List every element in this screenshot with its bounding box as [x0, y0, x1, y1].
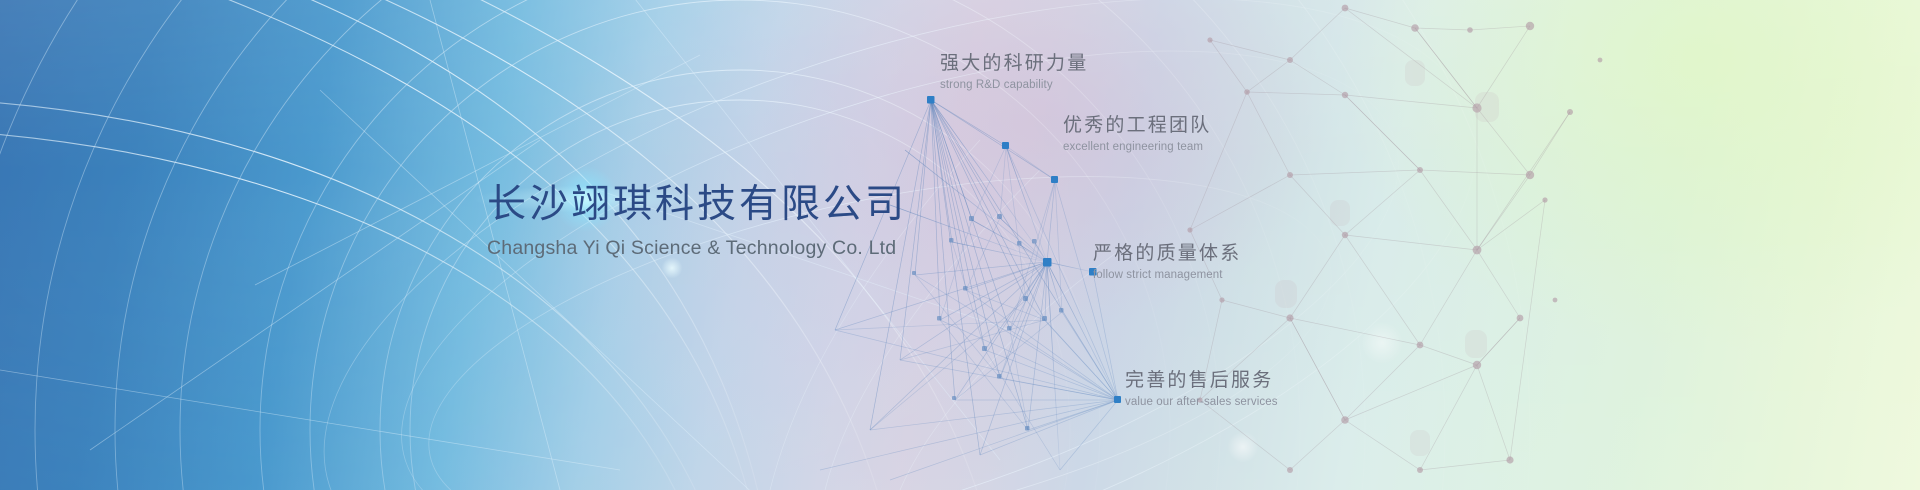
feature-item-service: 完善的售后服务 value our after-sales services — [1125, 365, 1278, 408]
feature-label-cn: 完善的售后服务 — [1125, 365, 1278, 392]
company-name-en: Changsha Yi Qi Science & Technology Co. … — [487, 237, 1007, 260]
feature-item-rd: 强大的科研力量 strong R&D capability — [940, 48, 1088, 91]
feature-label-cn: 优秀的工程团队 — [1063, 110, 1211, 137]
feature-item-quality: 严格的质量体系 follow strict management — [1093, 238, 1241, 281]
company-title-block: 长沙翊琪科技有限公司 Changsha Yi Qi Science & Tech… — [487, 182, 1007, 260]
feature-label-en: follow strict management — [1093, 269, 1241, 281]
feature-label-en: value our after-sales services — [1125, 396, 1278, 408]
feature-item-engineering: 优秀的工程团队 excellent engineering team — [1063, 110, 1211, 153]
company-banner: 长沙翊琪科技有限公司 Changsha Yi Qi Science & Tech… — [0, 0, 1920, 490]
feature-label-cn: 严格的质量体系 — [1093, 238, 1241, 265]
feature-label-en: strong R&D capability — [940, 79, 1088, 91]
company-name-cn: 长沙翊琪科技有限公司 — [487, 182, 1007, 228]
feature-label-cn: 强大的科研力量 — [940, 48, 1088, 75]
feature-label-en: excellent engineering team — [1063, 141, 1211, 153]
